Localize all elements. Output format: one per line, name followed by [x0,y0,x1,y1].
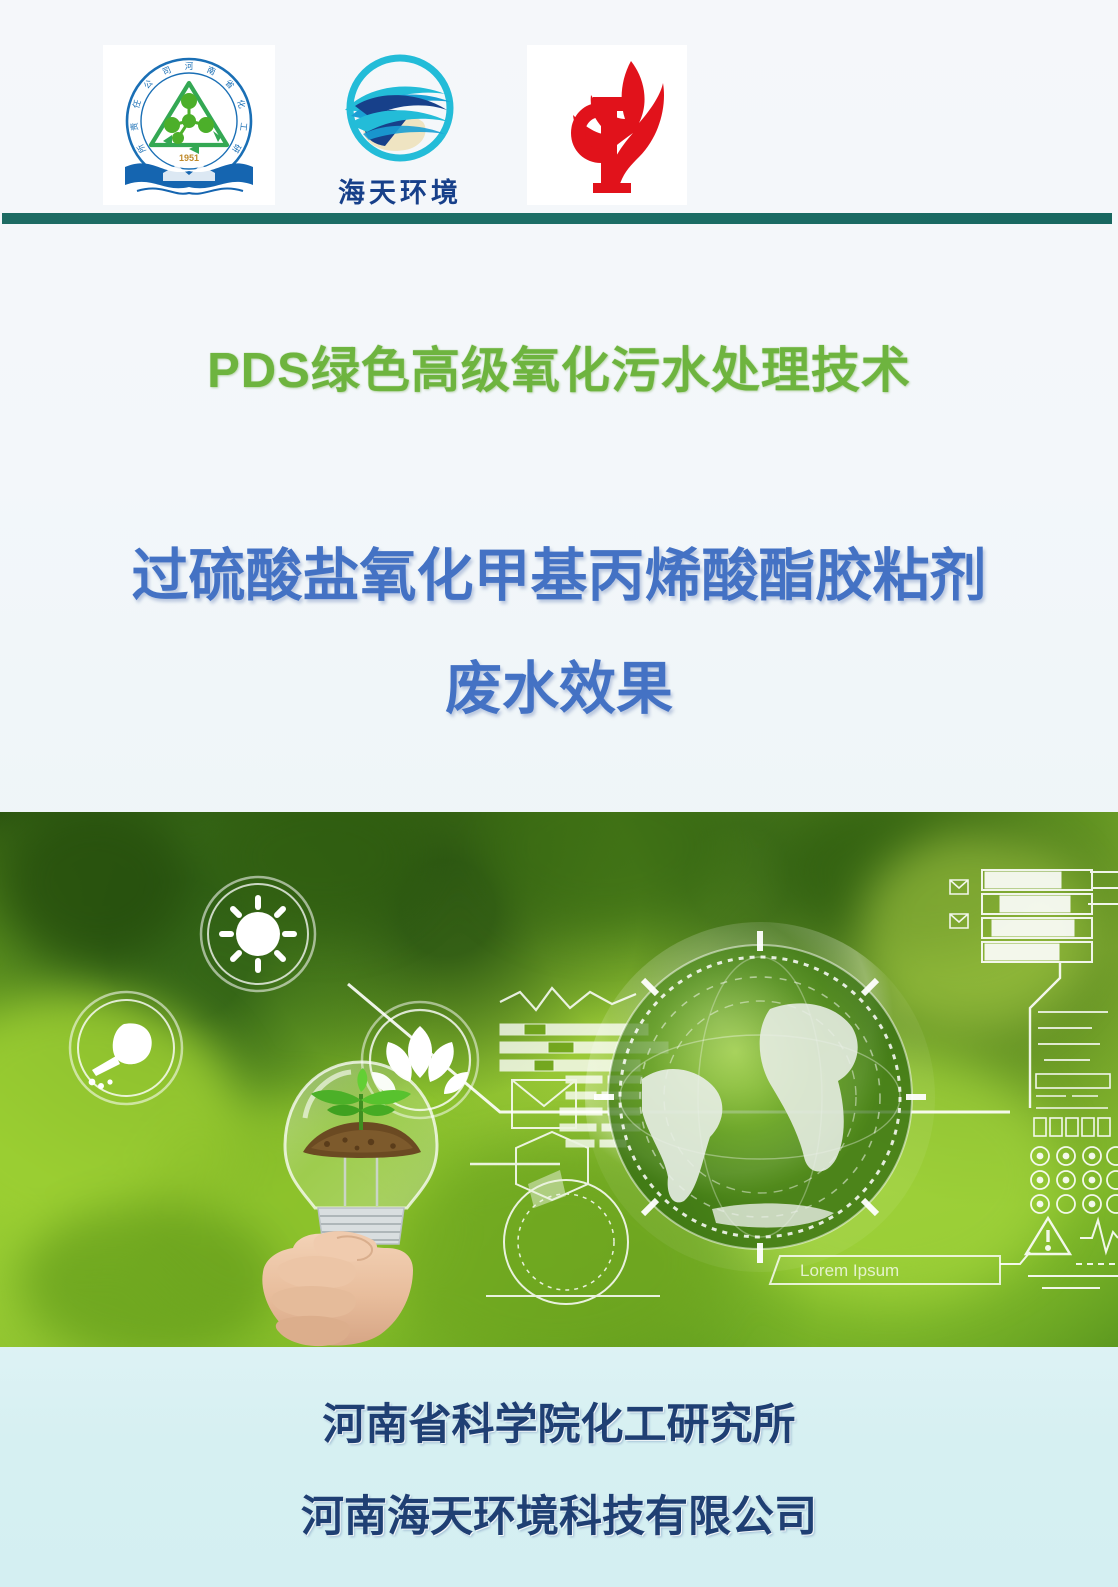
haitian-logo-label: 海天环境 [305,171,495,210]
svg-text:责: 责 [129,121,141,131]
logo-bar: 河 南 省 化 工 研 司 公 任 责 所 [0,0,1118,210]
red-flame-ct-icon [527,45,687,205]
lightbulb-with-seedling [185,1048,515,1347]
footer-org-line-2: 河南海天环境科技有限公司 [0,1482,1118,1544]
page-subtitle: 过硫酸盐氧化甲基丙烯酸酯胶粘剂 废水效果 [0,520,1118,746]
footer-org-line-1: 河南省科学院化工研究所 [0,1390,1118,1452]
hud-caption-box: Lorem Ipsum [770,1256,1000,1284]
hand-holding-bulb [262,1231,413,1346]
sun-icon [201,877,315,991]
hud-caption-text: Lorem Ipsum [800,1261,899,1280]
logo-haitian-environment: 海天环境 [305,50,495,205]
svg-text:工: 工 [237,122,248,132]
svg-text:化: 化 [234,98,247,110]
watering-can-icon [70,992,182,1104]
hud-right-panel [950,870,1118,1288]
page-title: PDS绿色高级氧化污水处理技术 [0,331,1118,402]
svg-text:河: 河 [185,61,194,72]
warning-triangle-icon [1026,1218,1070,1254]
footer: 河南省科学院化工研究所 河南海天环境科技有限公司 [0,1347,1118,1587]
hero-image: Lorem Ipsum [0,812,1118,1347]
svg-text:任: 任 [131,98,144,110]
haitian-wave-circle-icon [305,50,495,170]
hero-hud-overlay: Lorem Ipsum [0,812,1118,1347]
subtitle-line-1: 过硫酸盐氧化甲基丙烯酸酯胶粘剂 [0,520,1118,633]
header-divider [2,213,1112,224]
globe-hud [585,922,935,1272]
subtitle-line-2: 废水效果 [0,633,1118,746]
institute-seal-icon: 河 南 省 化 工 研 司 公 任 责 所 [103,45,275,205]
logo-henan-chemical-institute-seal: 河 南 省 化 工 研 司 公 任 责 所 [103,45,275,205]
logo-red-flame-ct [527,45,687,205]
seal-year-label: 1951 [179,153,199,163]
